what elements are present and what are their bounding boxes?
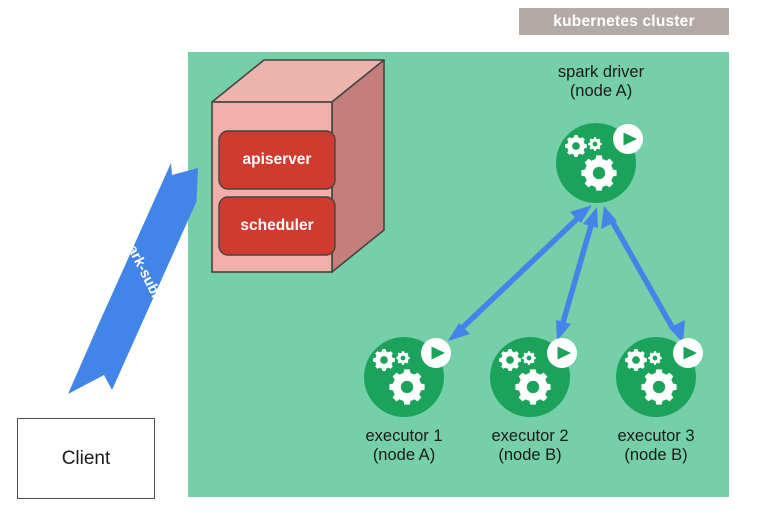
- play-icon: [613, 124, 643, 154]
- executor-2-label: executor 2 (node B): [466, 427, 594, 466]
- cluster-title: kubernetes cluster: [553, 13, 694, 31]
- scheduler-label-wrap: scheduler: [219, 197, 335, 255]
- executor-1-label: executor 1 (node A): [340, 427, 468, 466]
- spark-driver-label: spark driver (node A): [527, 63, 675, 102]
- spark-submit-arrow: [68, 163, 198, 394]
- client-box[interactable]: Client: [17, 418, 155, 499]
- apiserver-label: apiserver: [219, 131, 335, 189]
- diagram-canvas: kubernetes cluster apiserver scheduler s…: [0, 0, 761, 516]
- play-icon: [673, 338, 703, 368]
- play-icon: [421, 338, 451, 368]
- cluster-title-bar: kubernetes cluster: [519, 8, 729, 35]
- scheduler-label: scheduler: [219, 197, 335, 255]
- play-icon: [547, 338, 577, 368]
- apiserver-label-wrap: apiserver: [219, 131, 335, 189]
- client-label: Client: [62, 448, 111, 470]
- executor-3-label: executor 3 (node B): [592, 427, 720, 466]
